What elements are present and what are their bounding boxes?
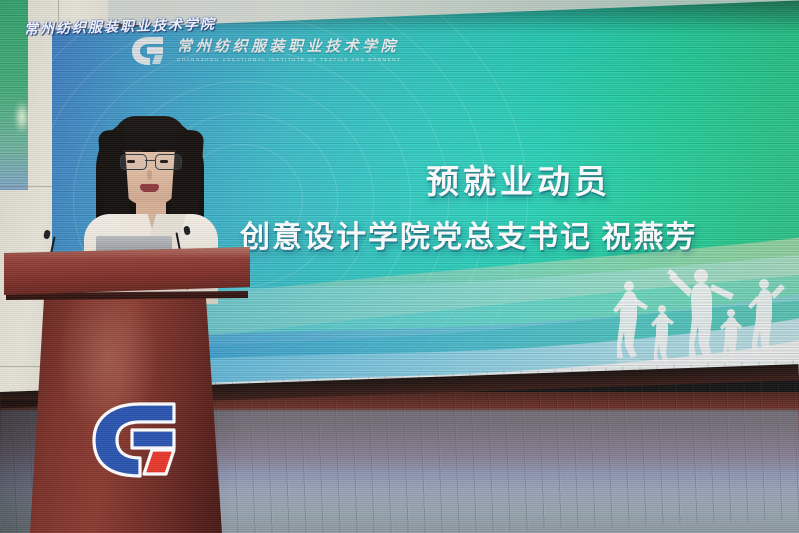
speaker-nose bbox=[147, 170, 152, 180]
wall-light-reflection bbox=[14, 100, 30, 134]
podium-institute-logo-icon bbox=[88, 400, 182, 480]
screen-logo-name-cn: 常州纺织服装职业技术学院 bbox=[177, 40, 401, 55]
screen-logo-name-en: CHANGZHOU VOCATIONAL INSTITUTE OF TEXTIL… bbox=[177, 58, 401, 63]
slide-title: 预就业动员 bbox=[426, 155, 611, 203]
slide-subtitle: 创意设计学院党总支书记 祝燕芳 bbox=[240, 212, 698, 256]
screenshot-root: 常州纺织服装职业技术学院 CHANGZHOU VOCATIONAL INSTIT… bbox=[0, 0, 799, 533]
speaker-eye-right bbox=[160, 160, 168, 163]
institute-logo-mark-icon bbox=[130, 36, 168, 66]
speaker-eye-left bbox=[127, 160, 135, 163]
screen-institute-logo: 常州纺织服装职业技术学院 CHANGZHOU VOCATIONAL INSTIT… bbox=[130, 36, 401, 66]
speaker-mouth bbox=[140, 184, 159, 192]
podium-top bbox=[4, 247, 250, 295]
